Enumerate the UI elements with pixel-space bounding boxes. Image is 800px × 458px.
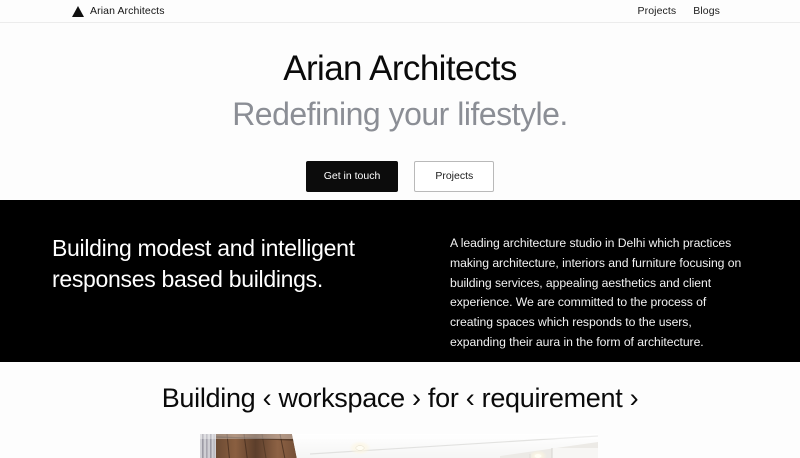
hero-subtitle: Redefining your lifestyle. bbox=[0, 97, 800, 133]
brand-logo[interactable]: Arian Architects bbox=[72, 5, 165, 17]
nav-link-projects[interactable]: Projects bbox=[638, 5, 677, 17]
showcase-photo bbox=[200, 434, 598, 458]
projects-button[interactable]: Projects bbox=[414, 161, 494, 192]
showcase-heading-tag-workspace[interactable]: ‹ workspace › bbox=[263, 383, 421, 413]
hero-section: Arian Architects Redefining your lifesty… bbox=[0, 23, 800, 200]
statement-body: A leading architecture studio in Delhi w… bbox=[450, 234, 744, 353]
landing-page: Arian Architects Projects Blogs Arian Ar… bbox=[0, 0, 800, 458]
nav-link-blogs[interactable]: Blogs bbox=[693, 5, 720, 17]
brand-name: Arian Architects bbox=[90, 5, 165, 17]
site-header: Arian Architects Projects Blogs bbox=[0, 0, 800, 23]
hero-title: Arian Architects bbox=[0, 49, 800, 88]
showcase-heading-part-2: for bbox=[428, 383, 459, 413]
get-in-touch-button[interactable]: Get in touch bbox=[306, 161, 399, 192]
interior-ceiling-photo bbox=[200, 434, 598, 458]
statement-right-column: A leading architecture studio in Delhi w… bbox=[450, 233, 744, 353]
hero-actions: Get in touch Projects bbox=[0, 161, 800, 192]
showcase-heading-tag-requirement[interactable]: ‹ requirement › bbox=[466, 383, 639, 413]
main-nav: Projects Blogs bbox=[638, 5, 721, 17]
statement-heading: Building modest and intelligent response… bbox=[52, 233, 450, 295]
triangle-logo-icon bbox=[72, 6, 84, 17]
showcase-heading: Building ‹ workspace › for ‹ requirement… bbox=[0, 384, 800, 414]
statement-band: Building modest and intelligent response… bbox=[0, 200, 800, 362]
statement-left-column: Building modest and intelligent response… bbox=[52, 233, 450, 295]
showcase-heading-part-1: Building bbox=[162, 383, 256, 413]
